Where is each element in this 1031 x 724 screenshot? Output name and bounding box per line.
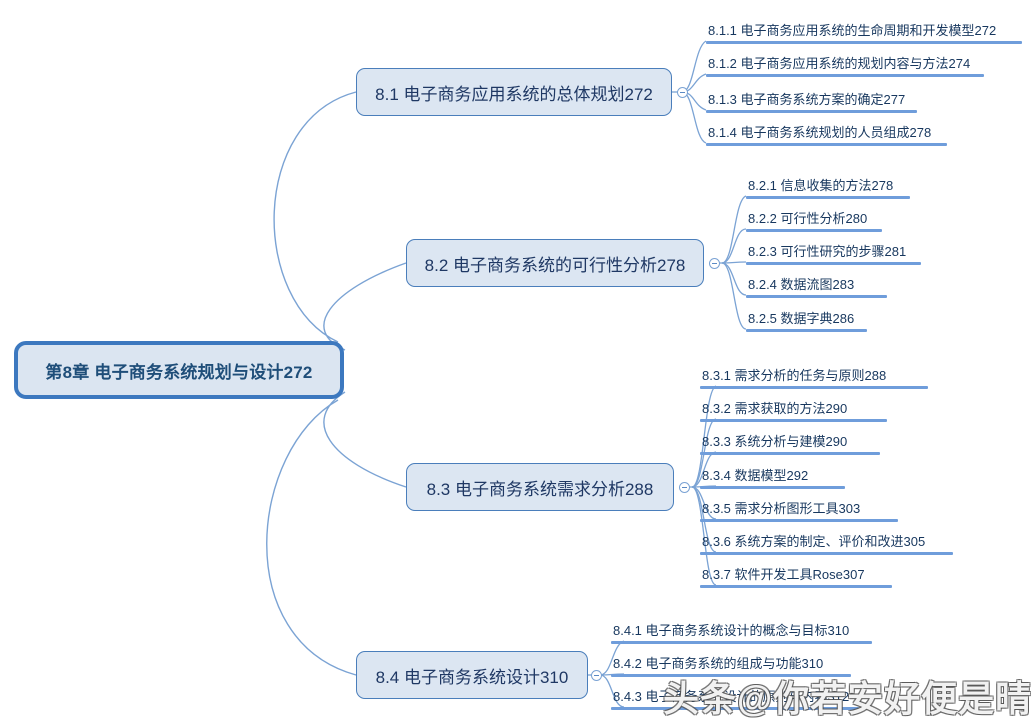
collapse-minus-icon-8-2[interactable] [709,258,720,269]
leaf-8-1-1-label: 8.1.1 电子商务应用系统的生命周期和开发模型272 [706,22,1022,41]
mindmap-canvas: 第8章 电子商务系统规划与设计272 8.1 电子商务应用系统的总体规划272 … [0,0,1031,724]
leaf-8-3-1[interactable]: 8.3.1 需求分析的任务与原则288 [700,364,928,389]
leaf-8-3-6-label: 8.3.6 系统方案的制定、评价和改进305 [700,533,953,552]
leaf-8-4-2-label: 8.4.2 电子商务系统的组成与功能310 [611,655,851,674]
root-node[interactable]: 第8章 电子商务系统规划与设计272 [14,341,344,399]
leaf-8-1-1[interactable]: 8.1.1 电子商务应用系统的生命周期和开发模型272 [706,19,1022,44]
leaf-underline [746,229,882,232]
leaf-8-2-4-label: 8.2.4 数据流图283 [746,276,887,295]
leaf-underline [700,519,898,522]
leaf-underline [746,295,887,298]
leaf-8-4-1-label: 8.4.1 电子商务系统设计的概念与目标310 [611,622,872,641]
leaf-underline [611,707,859,710]
leaf-underline [700,585,892,588]
leaf-underline [700,419,887,422]
leaf-8-3-5[interactable]: 8.3.5 需求分析图形工具303 [700,497,898,522]
leaf-underline [746,329,867,332]
leaf-8-1-2[interactable]: 8.1.2 电子商务应用系统的规划内容与方法274 [706,52,984,77]
leaf-underline [746,196,910,199]
branch-node-8-4[interactable]: 8.4 电子商务系统设计310 [356,651,588,699]
branch-node-8-3[interactable]: 8.3 电子商务系统需求分析288 [406,463,674,511]
collapse-minus-icon-8-4[interactable] [591,670,602,681]
leaf-8-3-5-label: 8.3.5 需求分析图形工具303 [700,500,898,519]
branch-node-8-3-label: 8.3 电子商务系统需求分析288 [427,475,654,500]
leaf-8-1-4-label: 8.1.4 电子商务系统规划的人员组成278 [706,124,947,143]
leaf-underline [700,386,928,389]
leaf-underline [700,552,953,555]
leaf-8-2-1-label: 8.2.1 信息收集的方法278 [746,177,910,196]
leaf-8-3-4-label: 8.3.4 数据模型292 [700,467,845,486]
leaf-8-3-3-label: 8.3.3 系统分析与建模290 [700,433,880,452]
leaf-8-2-3[interactable]: 8.2.3 可行性研究的步骤281 [746,240,921,265]
leaf-8-3-1-label: 8.3.1 需求分析的任务与原则288 [700,367,928,386]
branch-node-8-1-label: 8.1 电子商务应用系统的总体规划272 [375,80,653,105]
leaf-underline [700,486,845,489]
leaf-8-2-2-label: 8.2.2 可行性分析280 [746,210,882,229]
leaf-8-2-2[interactable]: 8.2.2 可行性分析280 [746,207,882,232]
branch-node-8-2-label: 8.2 电子商务系统的可行性分析278 [425,251,686,276]
leaf-8-3-7[interactable]: 8.3.7 软件开发工具Rose307 [700,563,892,588]
leaf-8-2-1[interactable]: 8.2.1 信息收集的方法278 [746,174,910,199]
leaf-underline [706,143,947,146]
leaf-8-2-3-label: 8.2.3 可行性研究的步骤281 [746,243,921,262]
leaf-8-4-1[interactable]: 8.4.1 电子商务系统设计的概念与目标310 [611,619,872,644]
branch-node-8-4-label: 8.4 电子商务系统设计310 [376,663,569,688]
collapse-minus-icon-8-1[interactable] [677,87,688,98]
leaf-8-3-3[interactable]: 8.3.3 系统分析与建模290 [700,430,880,455]
leaf-8-1-4[interactable]: 8.1.4 电子商务系统规划的人员组成278 [706,121,947,146]
leaf-underline [706,41,1022,44]
leaf-underline [706,74,984,77]
leaf-8-4-2[interactable]: 8.4.2 电子商务系统的组成与功能310 [611,652,851,677]
leaf-8-1-3[interactable]: 8.1.3 电子商务系统方案的确定277 [706,88,917,113]
branch-node-8-2[interactable]: 8.2 电子商务系统的可行性分析278 [406,239,704,287]
leaf-8-4-3[interactable]: 8.4.3 电子商务系统设计的原则与内容312 [611,685,859,710]
branch-node-8-1[interactable]: 8.1 电子商务应用系统的总体规划272 [356,68,672,116]
leaf-underline [611,641,872,644]
leaf-underline [611,674,851,677]
leaf-8-2-5[interactable]: 8.2.5 数据字典286 [746,307,867,332]
leaf-8-3-7-label: 8.3.7 软件开发工具Rose307 [700,566,892,585]
leaf-underline [700,452,880,455]
leaf-8-3-2[interactable]: 8.3.2 需求获取的方法290 [700,397,887,422]
leaf-8-3-2-label: 8.3.2 需求获取的方法290 [700,400,887,419]
leaf-8-2-4[interactable]: 8.2.4 数据流图283 [746,273,887,298]
leaf-underline [706,110,917,113]
collapse-minus-icon-8-3[interactable] [679,482,690,493]
leaf-8-2-5-label: 8.2.5 数据字典286 [746,310,867,329]
leaf-underline [746,262,921,265]
leaf-8-1-3-label: 8.1.3 电子商务系统方案的确定277 [706,91,917,110]
leaf-8-1-2-label: 8.1.2 电子商务应用系统的规划内容与方法274 [706,55,984,74]
leaf-8-4-3-label: 8.4.3 电子商务系统设计的原则与内容312 [611,688,859,707]
leaf-8-3-4[interactable]: 8.3.4 数据模型292 [700,464,845,489]
root-node-label: 第8章 电子商务系统规划与设计272 [45,358,312,383]
leaf-8-3-6[interactable]: 8.3.6 系统方案的制定、评价和改进305 [700,530,953,555]
